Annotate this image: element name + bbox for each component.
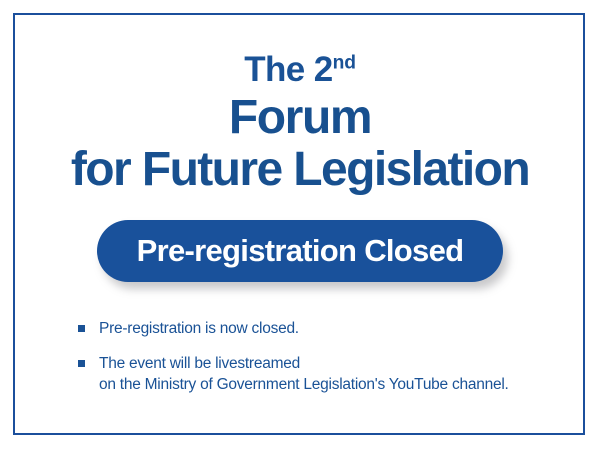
cta-container: Pre-registration Closed	[0, 220, 600, 282]
poster-heading: The 2nd Forum for Future Legislation	[0, 50, 600, 196]
list-item-line: The event will be livestreamed	[99, 353, 509, 374]
event-edition-kicker: The 2nd	[0, 50, 600, 90]
list-item-line: Pre-registration is now closed.	[99, 318, 299, 339]
square-bullet-icon	[78, 360, 85, 367]
page-title-line-1: Forum	[0, 92, 600, 144]
list-item: Pre-registration is now closed.	[78, 318, 548, 339]
notes-list: Pre-registration is now closed. The even…	[78, 318, 548, 409]
list-item-text: The event will be livestreamed on the Mi…	[99, 353, 509, 395]
list-item-text: Pre-registration is now closed.	[99, 318, 299, 339]
kicker-ordinal-suffix: nd	[333, 52, 356, 73]
kicker-number: The 2	[244, 50, 332, 89]
list-item: The event will be livestreamed on the Mi…	[78, 353, 548, 395]
page-title-line-2: for Future Legislation	[0, 144, 600, 196]
square-bullet-icon	[78, 325, 85, 332]
list-item-line: on the Ministry of Government Legislatio…	[99, 374, 509, 395]
pre-registration-status-button[interactable]: Pre-registration Closed	[97, 220, 504, 282]
announcement-poster: The 2nd Forum for Future Legislation Pre…	[0, 0, 600, 451]
